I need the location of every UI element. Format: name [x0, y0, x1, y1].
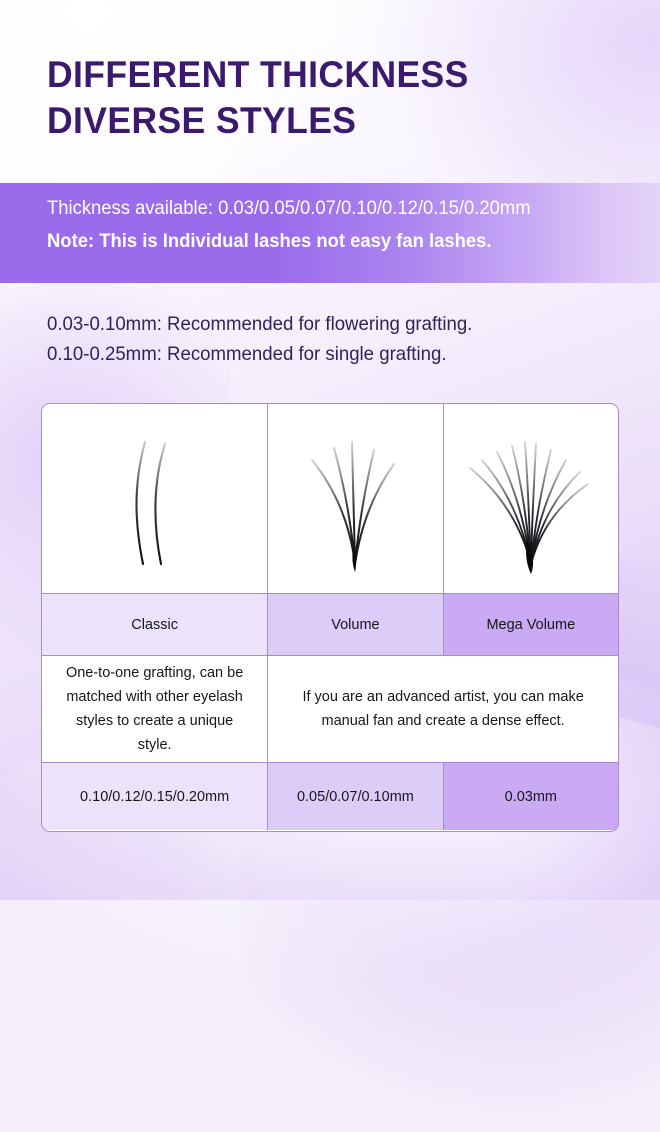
style-label-volume: Volume — [331, 614, 379, 636]
description-text-volume-mega: If you are an advanced artist, you can m… — [268, 685, 618, 733]
table-row-descriptions: One-to-one grafting, can be matched with… — [42, 656, 618, 763]
banner-note-text: Note: This is Individual lashes not easy… — [47, 231, 492, 253]
recommendation-line-2: 0.10-0.25mm: Recommended for single graf… — [47, 340, 635, 370]
classic-illustration-cell — [42, 404, 268, 594]
page-title: DIFFERENT THICKNESS DIVERSE STYLES — [47, 52, 604, 144]
thickness-cell-classic: 0.10/0.12/0.15/0.20mm — [42, 763, 268, 830]
recommendation-line-1: 0.03-0.10mm: Recommended for flowering g… — [47, 310, 635, 340]
description-cell-volume-mega: If you are an advanced artist, you can m… — [268, 656, 618, 763]
style-label-classic: Classic — [131, 614, 178, 636]
style-label-mega-volume: Mega Volume — [486, 614, 575, 636]
classic-lash-icon — [95, 424, 215, 574]
description-cell-classic: One-to-one grafting, can be matched with… — [42, 656, 268, 763]
volume-illustration-cell — [268, 404, 443, 594]
recommendation-block: 0.03-0.10mm: Recommended for flowering g… — [47, 310, 647, 370]
table-row-style-labels: Classic Volume Mega Volume — [42, 594, 618, 656]
thickness-cell-volume: 0.05/0.07/0.10mm — [268, 763, 443, 830]
style-label-cell-volume: Volume — [268, 594, 443, 656]
volume-lash-fan-icon — [290, 424, 420, 574]
description-text-classic: One-to-one grafting, can be matched with… — [42, 661, 267, 757]
page-title-line-1: DIFFERENT THICKNESS — [47, 52, 604, 98]
thickness-value-volume: 0.05/0.07/0.10mm — [297, 786, 414, 808]
table-row-illustrations — [42, 404, 618, 594]
thickness-banner: Thickness available: 0.03/0.05/0.07/0.10… — [0, 183, 660, 283]
lash-style-comparison-table: Classic Volume Mega Volume One-to-one gr… — [41, 403, 619, 832]
style-label-cell-mega-volume: Mega Volume — [444, 594, 618, 656]
mega-volume-illustration-cell — [444, 404, 618, 594]
page-title-line-2: DIVERSE STYLES — [47, 98, 604, 144]
thickness-cell-mega-volume: 0.03mm — [444, 763, 618, 830]
thickness-available-text: Thickness available: 0.03/0.05/0.07/0.10… — [47, 198, 531, 220]
thickness-value-mega-volume: 0.03mm — [505, 786, 557, 808]
style-label-cell-classic: Classic — [42, 594, 268, 656]
thickness-value-classic: 0.10/0.12/0.15/0.20mm — [80, 786, 229, 808]
table-row-thickness: 0.10/0.12/0.15/0.20mm 0.05/0.07/0.10mm 0… — [42, 763, 618, 830]
mega-volume-lash-fan-icon — [456, 424, 606, 574]
